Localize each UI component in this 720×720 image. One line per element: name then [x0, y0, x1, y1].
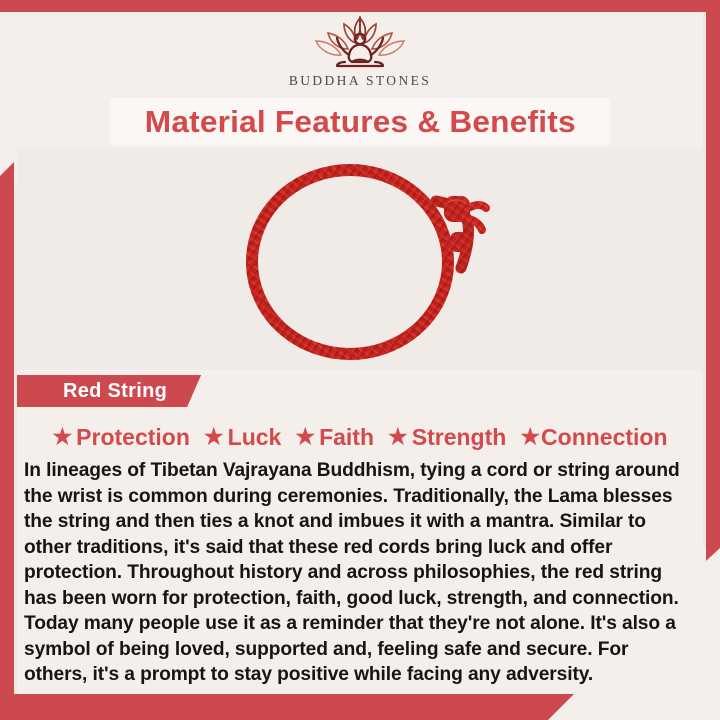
benefit-label: Strength — [412, 424, 507, 451]
brand-name: BUDDHA STONES — [289, 73, 431, 89]
benefit-item-strength: ★ Strength — [381, 424, 513, 451]
benefit-label: Protection — [76, 424, 190, 451]
benefit-label: Luck — [228, 424, 282, 451]
infographic-page: BUDDHA STONES Material Features & Benefi… — [0, 0, 720, 720]
product-image — [17, 148, 703, 370]
page-title: Material Features & Benefits — [145, 104, 576, 140]
star-icon: ★ — [295, 426, 315, 448]
benefit-label: Faith — [319, 424, 374, 451]
red-braided-string-bracelet-illustration — [230, 154, 490, 364]
frame-left-border — [0, 176, 14, 720]
frame-top-border — [0, 0, 720, 12]
benefit-label: Connection — [541, 424, 668, 451]
benefit-keyword-list: ★ Protection ★ Luck ★ Faith ★ Strength ★… — [17, 419, 703, 455]
product-name: Red String — [63, 380, 167, 403]
frame-bottom-border — [0, 694, 548, 720]
brand-logo: BUDDHA STONES — [0, 14, 720, 96]
title-banner: Material Features & Benefits — [110, 98, 610, 145]
description-text: In lineages of Tibetan Vajrayana Buddhis… — [24, 458, 696, 688]
benefit-item-protection: ★ Protection — [45, 424, 196, 451]
star-icon: ★ — [204, 426, 224, 448]
star-icon: ★ — [52, 426, 72, 448]
benefit-item-luck: ★ Luck — [197, 424, 288, 451]
product-name-banner: Red String — [17, 375, 201, 407]
benefit-item-connection: ★ Connection — [513, 424, 674, 451]
product-description: In lineages of Tibetan Vajrayana Buddhis… — [24, 458, 696, 688]
lotus-meditation-icon — [300, 14, 420, 72]
star-icon: ★ — [388, 426, 408, 448]
benefit-item-faith: ★ Faith — [288, 424, 381, 451]
star-icon: ★ — [520, 426, 540, 448]
